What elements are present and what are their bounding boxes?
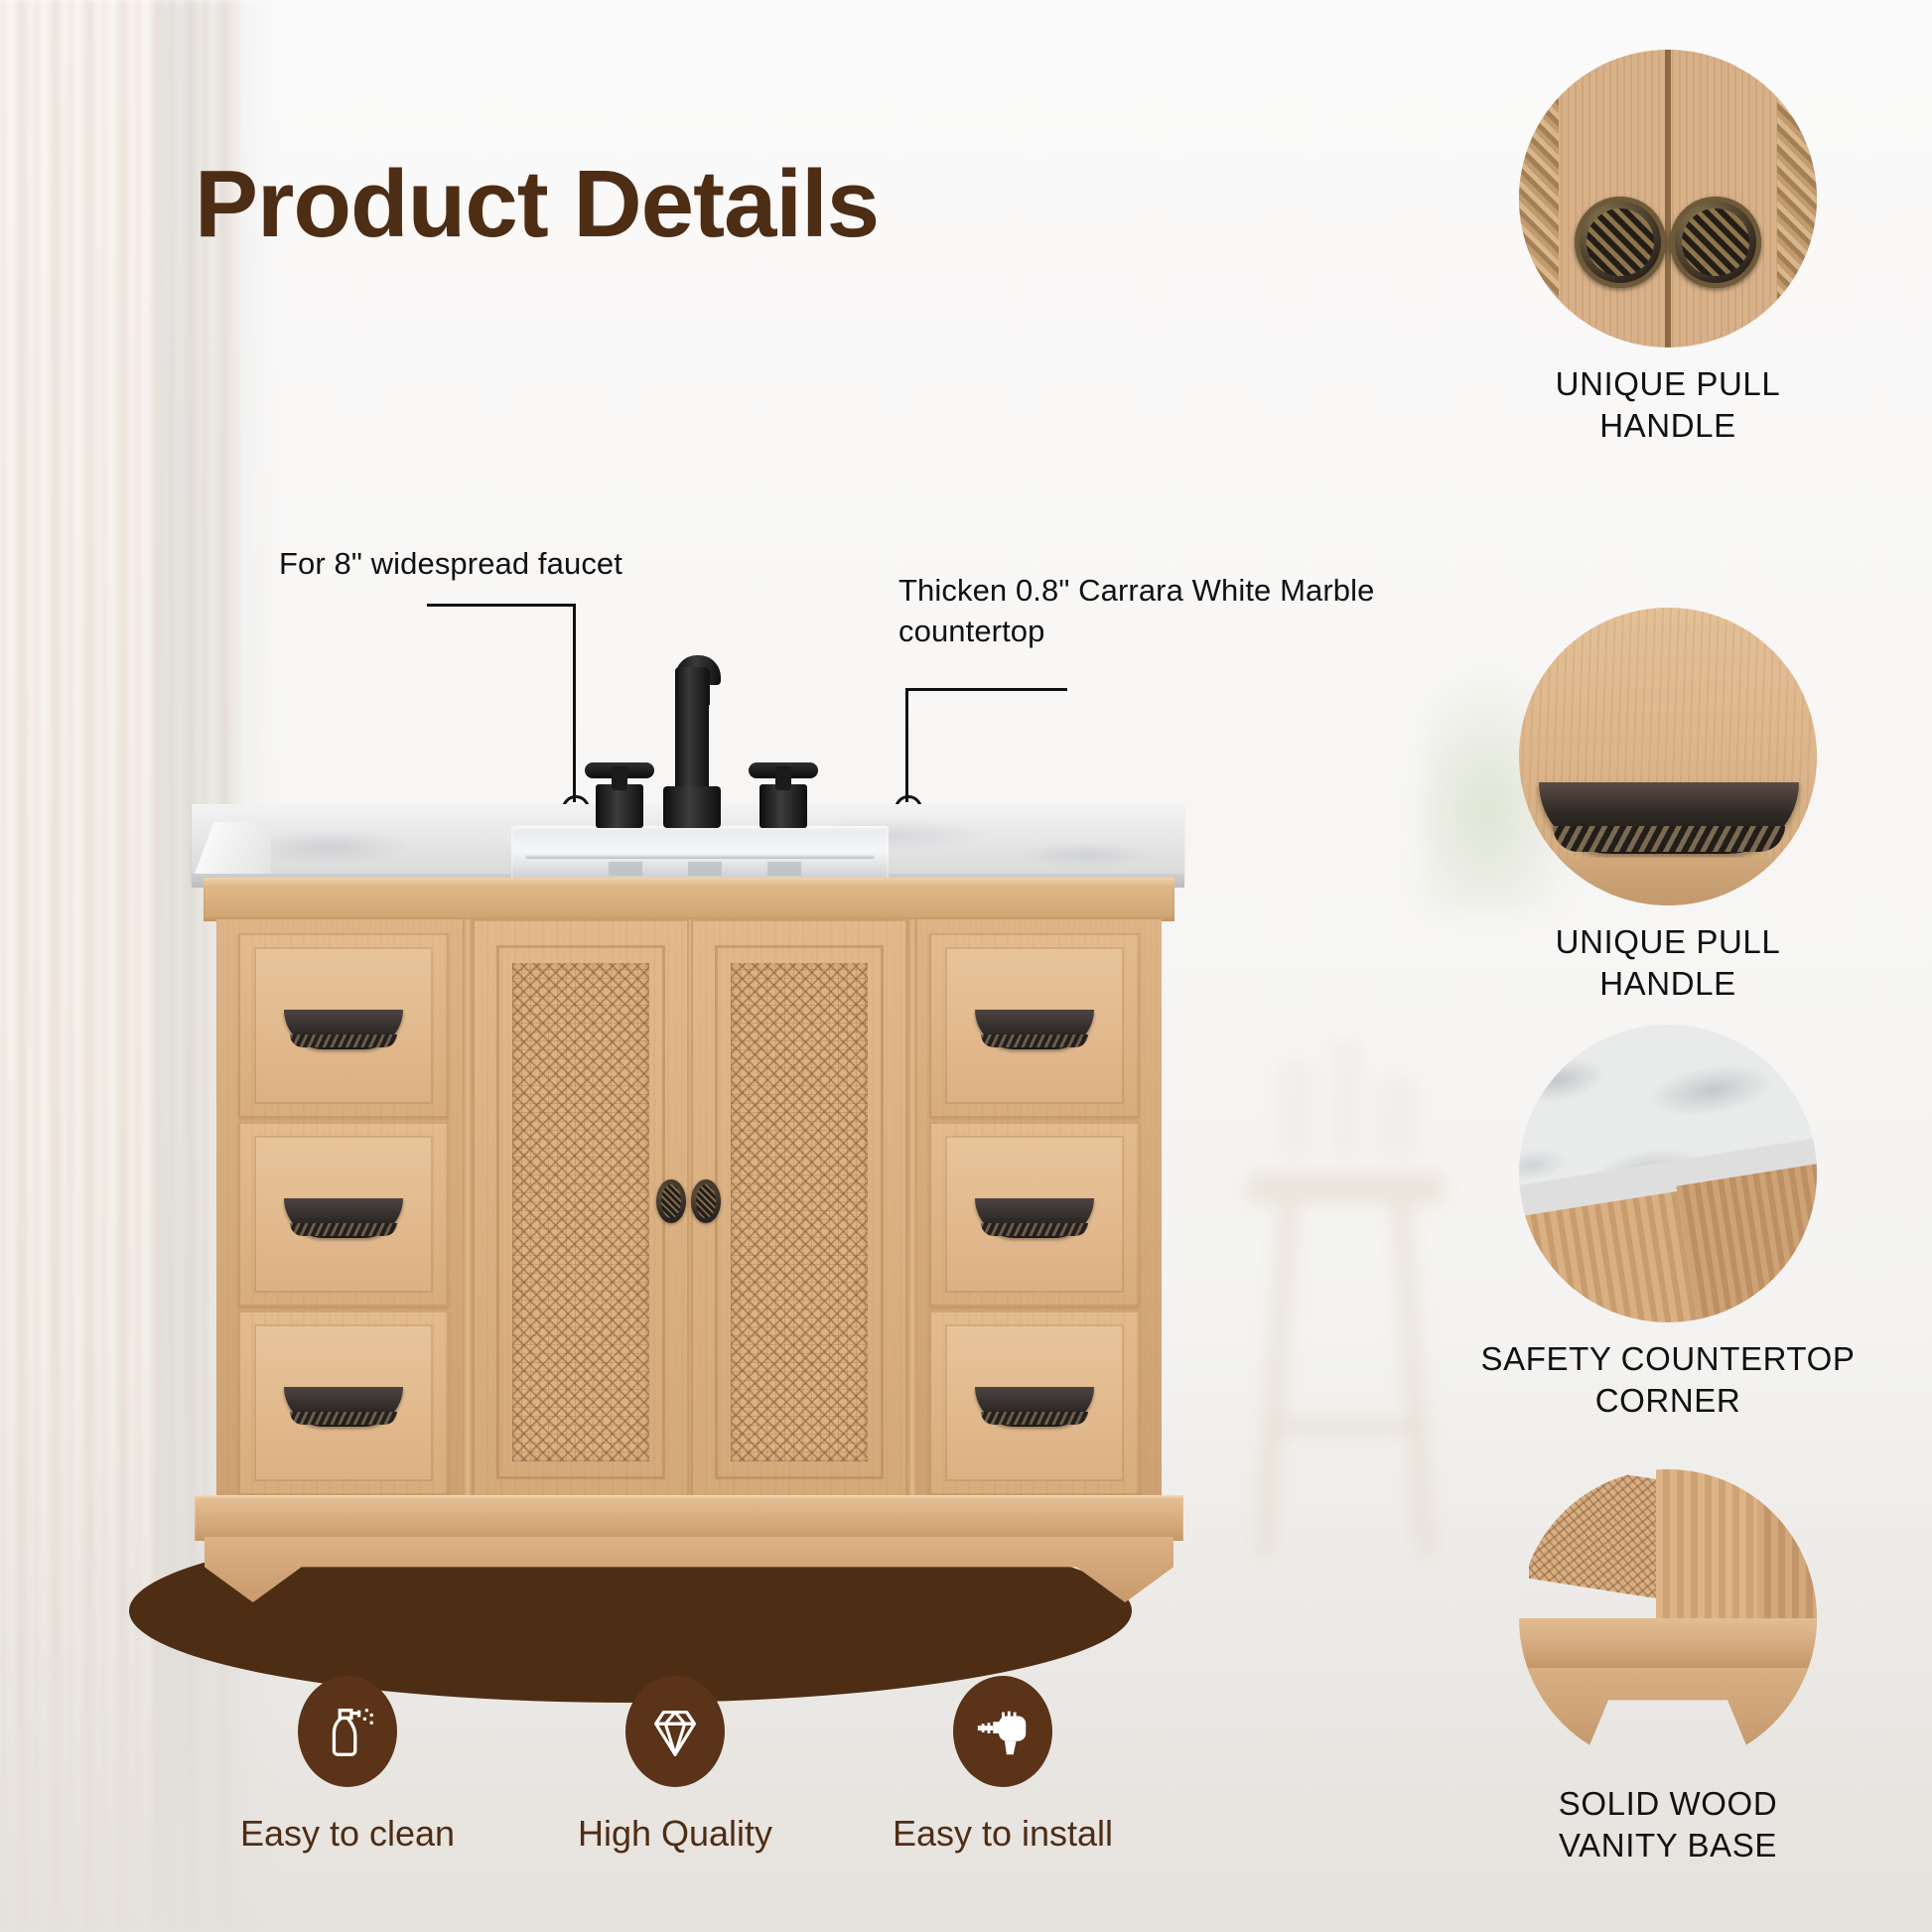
callout-pull-handle-cup: UNIQUE PULL HANDLE bbox=[1459, 608, 1876, 1005]
cabinet-plinth bbox=[195, 1495, 1183, 1541]
door-knob-left[interactable] bbox=[656, 1179, 686, 1223]
spray-bottle-icon bbox=[298, 1676, 397, 1787]
page-title: Product Details bbox=[195, 157, 879, 252]
feature-badge-label: Easy to clean bbox=[228, 1813, 467, 1855]
diamond-icon bbox=[625, 1676, 725, 1787]
cup-pull-detail-circle bbox=[1519, 608, 1817, 905]
drawer-left-1[interactable] bbox=[238, 933, 449, 1118]
callout-label: SOLID WOOD VANITY BASE bbox=[1459, 1783, 1876, 1866]
cabinet-stile-right bbox=[907, 919, 917, 1505]
faucet-handle-right bbox=[759, 784, 807, 828]
cup-pull-icon[interactable] bbox=[975, 1010, 1094, 1049]
drawer-right-2[interactable] bbox=[929, 1122, 1140, 1307]
cabinet-body bbox=[216, 919, 1162, 1505]
cabinet-top-moulding bbox=[204, 878, 1174, 921]
callout-label: UNIQUE PULL HANDLE bbox=[1459, 363, 1876, 447]
cup-pull-icon[interactable] bbox=[975, 1198, 1094, 1238]
cabinet-stile-left bbox=[463, 919, 473, 1505]
product-detail-infographic: Product Details For 8" widespread faucet… bbox=[0, 0, 1932, 1932]
drawer-left-2[interactable] bbox=[238, 1122, 449, 1307]
feature-badge-easy-to-clean: Easy to clean bbox=[228, 1676, 467, 1855]
cane-webbing-panel bbox=[512, 963, 649, 1461]
marble-corner-detail-circle bbox=[1519, 1025, 1817, 1322]
cup-pull-icon[interactable] bbox=[284, 1387, 403, 1427]
callout-vanity-base: SOLID WOOD VANITY BASE bbox=[1459, 1469, 1876, 1866]
callout-label: UNIQUE PULL HANDLE bbox=[1459, 921, 1876, 1005]
door-knob-right[interactable] bbox=[691, 1179, 721, 1223]
cup-pull-icon[interactable] bbox=[284, 1010, 403, 1049]
callout-countertop-corner: SAFETY COUNTERTOP CORNER bbox=[1459, 1025, 1876, 1422]
cane-webbing-panel bbox=[731, 963, 868, 1461]
feature-badge-label: High Quality bbox=[556, 1813, 794, 1855]
cup-pull-icon[interactable] bbox=[284, 1198, 403, 1238]
background-bottles bbox=[1276, 1008, 1435, 1157]
feature-badge-row: Easy to clean High Quality bbox=[228, 1676, 1122, 1855]
annotation-countertop-label: Thicken 0.8" Carrara White Marble counte… bbox=[898, 571, 1374, 652]
background-stool bbox=[1246, 1172, 1445, 1588]
undermount-sink bbox=[511, 826, 889, 882]
callout-label: SAFETY COUNTERTOP CORNER bbox=[1459, 1338, 1876, 1422]
drill-icon bbox=[953, 1676, 1052, 1787]
callout-pull-handle-knob: UNIQUE PULL HANDLE bbox=[1459, 50, 1876, 447]
knob-detail-circle bbox=[1519, 50, 1817, 347]
drawer-right-3[interactable] bbox=[929, 1311, 1140, 1495]
faucet-handle-left bbox=[596, 784, 643, 828]
cabinet-door-left[interactable] bbox=[473, 919, 689, 1505]
feature-badge-high-quality: High Quality bbox=[556, 1676, 794, 1855]
annotation-faucet-label: For 8" widespread faucet bbox=[279, 544, 622, 585]
feature-badge-label: Easy to install bbox=[884, 1813, 1122, 1855]
drawer-right-1[interactable] bbox=[929, 933, 1140, 1118]
cabinet-door-right[interactable] bbox=[691, 919, 907, 1505]
wood-base-detail-circle bbox=[1519, 1469, 1817, 1767]
cup-pull-icon[interactable] bbox=[975, 1387, 1094, 1427]
drawer-left-3[interactable] bbox=[238, 1311, 449, 1495]
feature-badge-easy-to-install: Easy to install bbox=[884, 1676, 1122, 1855]
